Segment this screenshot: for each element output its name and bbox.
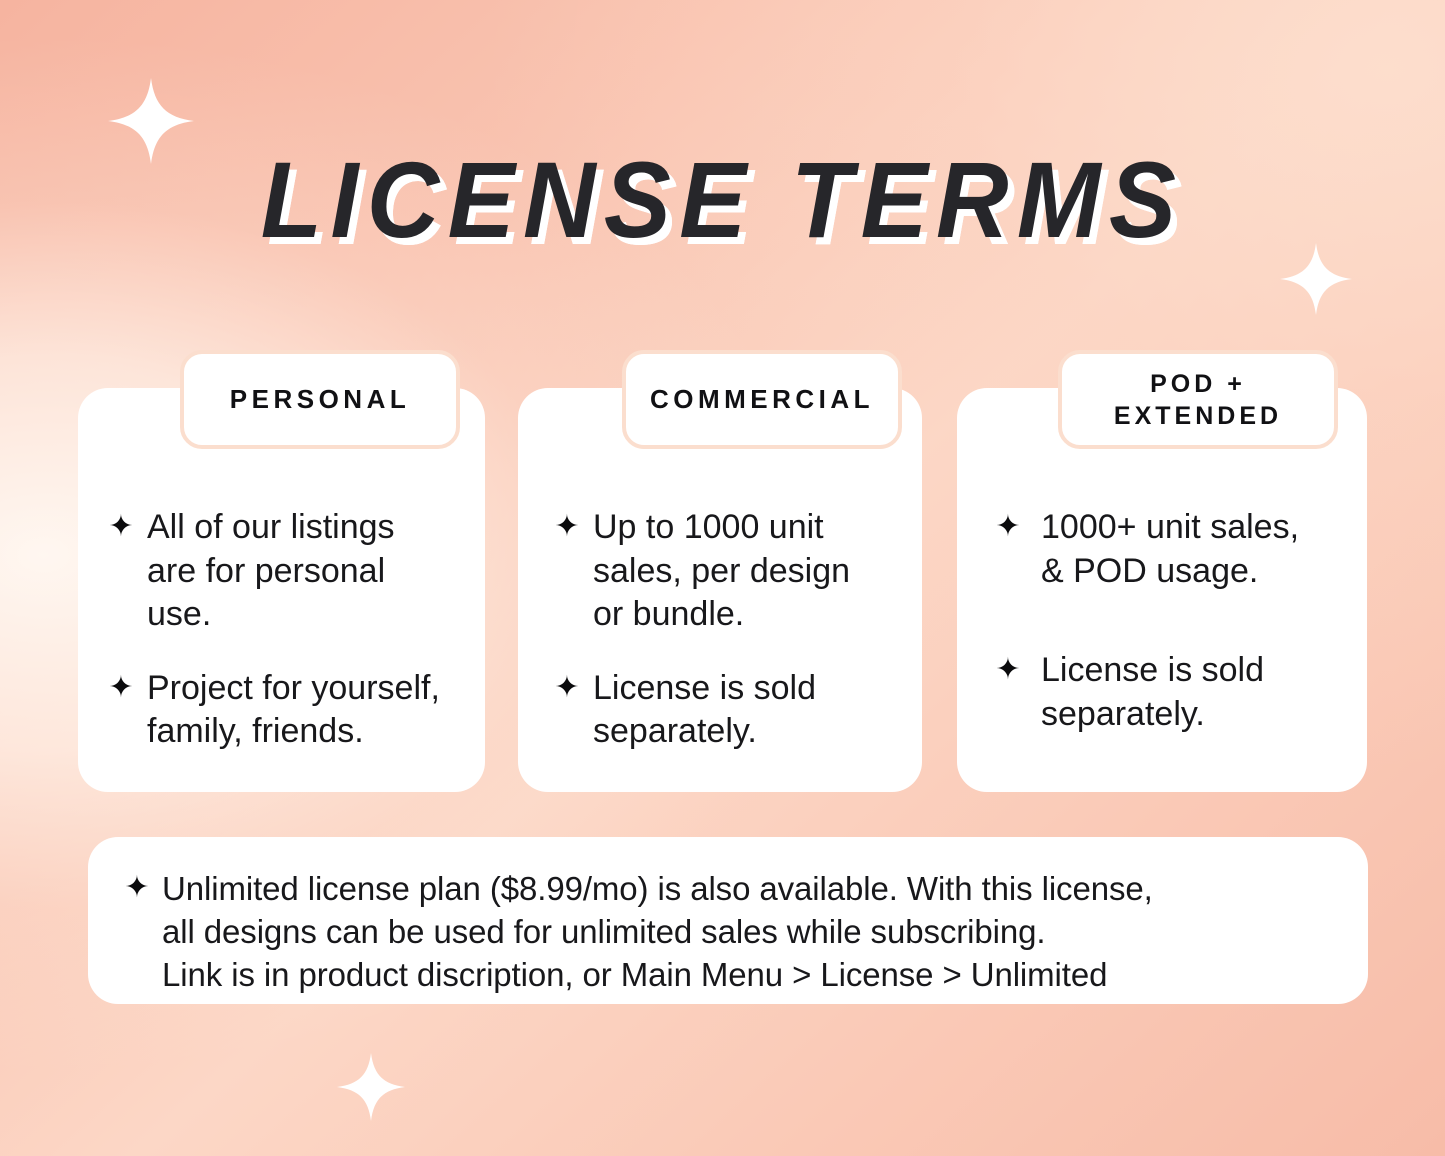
list-item: ✦ 1000+ unit sales, & POD usage. — [991, 506, 1347, 593]
sparkle-star-icon — [108, 78, 194, 164]
unlimited-plan-text: Unlimited license plan ($8.99/mo) is als… — [162, 868, 1334, 997]
card-body: ✦ 1000+ unit sales, & POD usage. ✦ Licen… — [957, 506, 1367, 792]
sparkle-bullet-icon: ✦ — [120, 868, 154, 909]
license-badge-personal: PERSONAL — [180, 350, 460, 449]
license-tier-cards: ✦ All of our listings are for personal u… — [78, 350, 1367, 792]
list-item: ✦ All of our listings are for personal u… — [104, 506, 465, 637]
license-badge-label: COMMERCIAL — [650, 383, 874, 416]
license-badge-pod-extended: POD + EXTENDED — [1058, 350, 1338, 449]
sparkle-bullet-icon: ✦ — [550, 667, 584, 708]
list-item: ✦ Up to 1000 unit sales, per design or b… — [550, 506, 902, 637]
list-item: ✦ Project for yourself, family, friends. — [104, 667, 465, 754]
banner-inner: ✦ Unlimited license plan ($8.99/mo) is a… — [88, 837, 1368, 997]
sparkle-star-icon — [1280, 243, 1352, 315]
list-item: ✦ License is sold separately. — [991, 649, 1347, 736]
card-body: ✦ All of our listings are for personal u… — [78, 506, 485, 754]
sparkle-bullet-icon: ✦ — [991, 506, 1025, 547]
list-item-text: License is sold separately. — [1041, 649, 1347, 736]
list-item-text: Up to 1000 unit sales, per design or bun… — [593, 506, 902, 637]
card-body: ✦ Up to 1000 unit sales, per design or b… — [518, 506, 922, 754]
sparkle-bullet-icon: ✦ — [104, 506, 138, 547]
sparkle-bullet-icon: ✦ — [991, 649, 1025, 690]
list-item-text: Project for yourself, family, friends. — [147, 667, 465, 754]
page-title-wrap: LICENSE TERMS — [0, 146, 1445, 254]
license-terms-poster: LICENSE TERMS ✦ All of our listings are … — [0, 0, 1445, 1156]
list-item-text: License is sold separately. — [593, 667, 902, 754]
list-item-text: 1000+ unit sales, & POD usage. — [1041, 506, 1347, 593]
sparkle-bullet-icon: ✦ — [104, 667, 138, 708]
unlimited-plan-banner: ✦ Unlimited license plan ($8.99/mo) is a… — [88, 837, 1368, 1004]
sparkle-star-icon — [337, 1053, 405, 1121]
license-badge-commercial: COMMERCIAL — [622, 350, 902, 449]
page-title: LICENSE TERMS — [261, 146, 1185, 254]
license-badge-label: PERSONAL — [230, 383, 410, 416]
list-item: ✦ License is sold separately. — [550, 667, 902, 754]
sparkle-bullet-icon: ✦ — [550, 506, 584, 547]
list-item-text: All of our listings are for personal use… — [147, 506, 465, 637]
license-badge-label: POD + EXTENDED — [1062, 368, 1334, 432]
